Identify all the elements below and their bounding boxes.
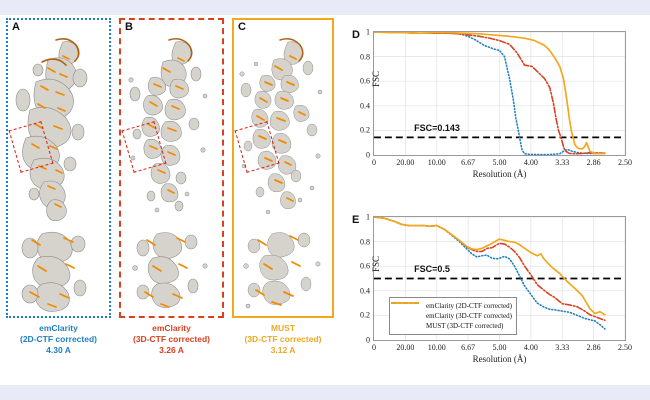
density-panel-a[interactable]: A bbox=[6, 18, 111, 318]
x-tick-label: 6.67 bbox=[461, 158, 475, 167]
x-axis-label-e: Resolution (Å) bbox=[473, 354, 527, 364]
x-tick-label: 10.00 bbox=[428, 158, 446, 167]
figure-canvas: A bbox=[0, 15, 650, 385]
y-axis-label-d: FSC bbox=[371, 71, 381, 87]
x-tick-label: 20.00 bbox=[396, 158, 414, 167]
x-tick-label: 2.50 bbox=[618, 158, 632, 167]
y-tick-label: 0.8 bbox=[360, 237, 370, 246]
x-tick-label: 5.00 bbox=[493, 158, 507, 167]
caption-c-resolution: 3.12 A bbox=[232, 345, 334, 356]
caption-a-line1: emClarity bbox=[6, 323, 111, 334]
panel-letter-e: E bbox=[352, 214, 359, 226]
y-tick-label: 0 bbox=[366, 151, 370, 160]
legend-line-swatch bbox=[393, 321, 423, 331]
y-tick-label: 1 bbox=[366, 28, 370, 37]
panel-letter-b: B bbox=[125, 22, 133, 33]
x-tick-label: 20.00 bbox=[396, 343, 414, 352]
y-tick-label: 0.6 bbox=[360, 262, 370, 271]
x-tick-label: 3.33 bbox=[555, 343, 569, 352]
density-panel-group: A bbox=[0, 15, 340, 385]
panel-letter-c: C bbox=[238, 22, 246, 33]
caption-c-line1: MUST bbox=[232, 323, 334, 334]
y-tick-label: 1 bbox=[366, 213, 370, 222]
caption-a-line2: (2D-CTF corrected) bbox=[6, 334, 111, 345]
y-tick-label: 0.4 bbox=[360, 286, 370, 295]
y-tick-label: 0.8 bbox=[360, 52, 370, 61]
y-axis-label-e: FSC bbox=[371, 256, 381, 272]
y-tick-label: 0.4 bbox=[360, 101, 370, 110]
panel-letter-d: D bbox=[352, 29, 360, 41]
plot-area-d: FSC Resolution (Å) FSC=0.143 00.20.40.60… bbox=[373, 31, 626, 156]
fsc-chart-d: D FSC Resolution (Å) FSC=0.143 00.20.40.… bbox=[340, 15, 650, 200]
density-render-a-bottom bbox=[8, 228, 109, 316]
caption-panel-c: MUST (3D-CTF corrected) 3.12 A bbox=[232, 323, 334, 356]
threshold-label-d: FSC=0.143 bbox=[414, 123, 460, 133]
threshold-label-e: FSC=0.5 bbox=[414, 264, 450, 274]
legend-item[interactable]: MUST (3D-CTF corrected) bbox=[393, 321, 512, 331]
density-render-c-bottom bbox=[234, 228, 332, 316]
x-tick-label: 4.00 bbox=[524, 158, 538, 167]
x-tick-label: 2.86 bbox=[587, 343, 601, 352]
fsc-curves-d bbox=[374, 32, 625, 155]
plot-area-e: FSC Resolution (Å) FSC=0.5 emClarity (2D… bbox=[373, 216, 626, 341]
x-tick-label: 0 bbox=[372, 158, 376, 167]
density-panel-c[interactable]: C bbox=[232, 18, 334, 318]
density-panel-b[interactable]: B bbox=[119, 18, 224, 318]
x-tick-label: 2.86 bbox=[587, 158, 601, 167]
x-axis-label-d: Resolution (Å) bbox=[473, 169, 527, 179]
x-tick-label: 3.33 bbox=[555, 158, 569, 167]
chart-legend-e[interactable]: emClarity (2D-CTF corrected)emClarity (3… bbox=[389, 297, 517, 335]
caption-b-line2: (3D-CTF corrected) bbox=[119, 334, 224, 345]
x-tick-label: 6.67 bbox=[461, 343, 475, 352]
density-map-c-bottom bbox=[234, 228, 332, 316]
caption-b-resolution: 3.26 A bbox=[119, 345, 224, 356]
panel-letter-a: A bbox=[12, 22, 20, 33]
x-tick-label: 4.00 bbox=[524, 343, 538, 352]
caption-a-resolution: 4.30 A bbox=[6, 345, 111, 356]
x-tick-label: 10.00 bbox=[428, 343, 446, 352]
fsc-chart-e: E FSC Resolution (Å) FSC=0.5 emClarity (… bbox=[340, 200, 650, 385]
y-tick-label: 0.2 bbox=[360, 126, 370, 135]
density-map-b-bottom bbox=[121, 228, 222, 316]
y-tick-label: 0.2 bbox=[360, 311, 370, 320]
x-tick-label: 0 bbox=[372, 343, 376, 352]
caption-c-line2: (3D-CTF corrected) bbox=[232, 334, 334, 345]
density-render-b-bottom bbox=[121, 228, 222, 316]
density-map-a-bottom bbox=[8, 228, 109, 316]
caption-panel-b: emClarity (3D-CTF corrected) 3.26 A bbox=[119, 323, 224, 356]
y-tick-label: 0 bbox=[366, 336, 370, 345]
x-tick-label: 2.50 bbox=[618, 343, 632, 352]
caption-panel-a: emClarity (2D-CTF corrected) 4.30 A bbox=[6, 323, 111, 356]
caption-b-line1: emClarity bbox=[119, 323, 224, 334]
x-tick-label: 5.00 bbox=[493, 343, 507, 352]
y-tick-label: 0.6 bbox=[360, 77, 370, 86]
